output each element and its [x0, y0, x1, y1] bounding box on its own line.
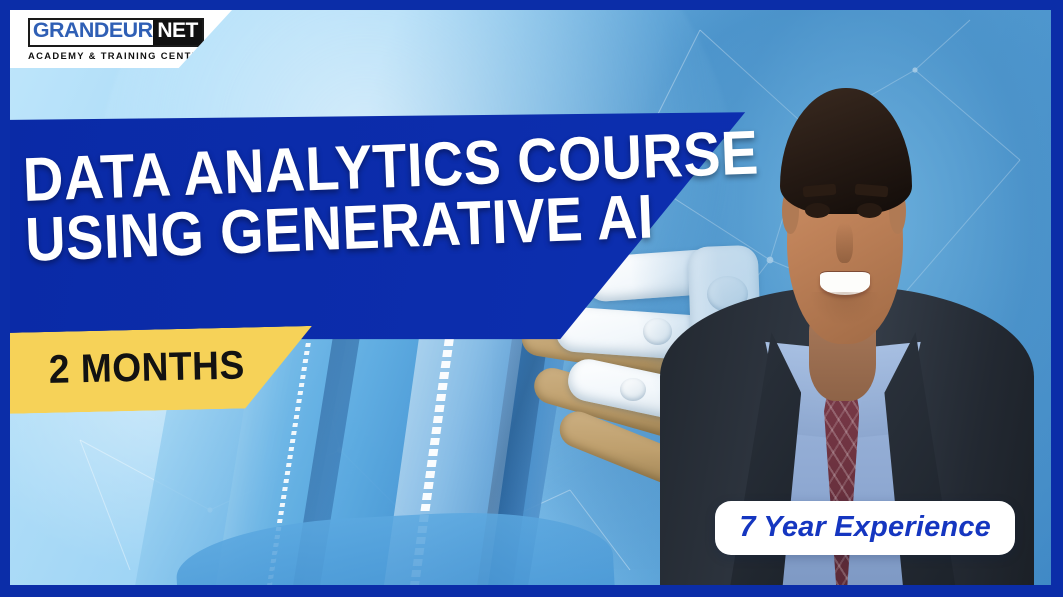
brand-name-secondary: NET: [153, 20, 202, 45]
instructor-portrait: [635, 10, 1051, 585]
experience-badge: 7 Year Experience: [715, 501, 1015, 555]
brand-logo-inner: GRANDEUR NET ACADEMY & TRAINING CENTRE: [28, 18, 204, 61]
course-promo-poster: DATA ANALYTICS COURSE USING GENERATIVE A…: [0, 0, 1063, 597]
brand-tagline: ACADEMY & TRAINING CENTRE: [28, 50, 204, 61]
brand-logo-wordmark: GRANDEUR NET: [28, 18, 204, 47]
experience-badge-label: 7 Year Experience: [739, 511, 991, 543]
duration-badge-label: 2 MONTHS: [48, 343, 245, 391]
poster-frame-top: [0, 0, 1063, 10]
poster-background: [10, 10, 1051, 585]
brand-name-primary: GRANDEUR: [29, 20, 155, 45]
portrait-chin-shadow: [809, 292, 880, 327]
